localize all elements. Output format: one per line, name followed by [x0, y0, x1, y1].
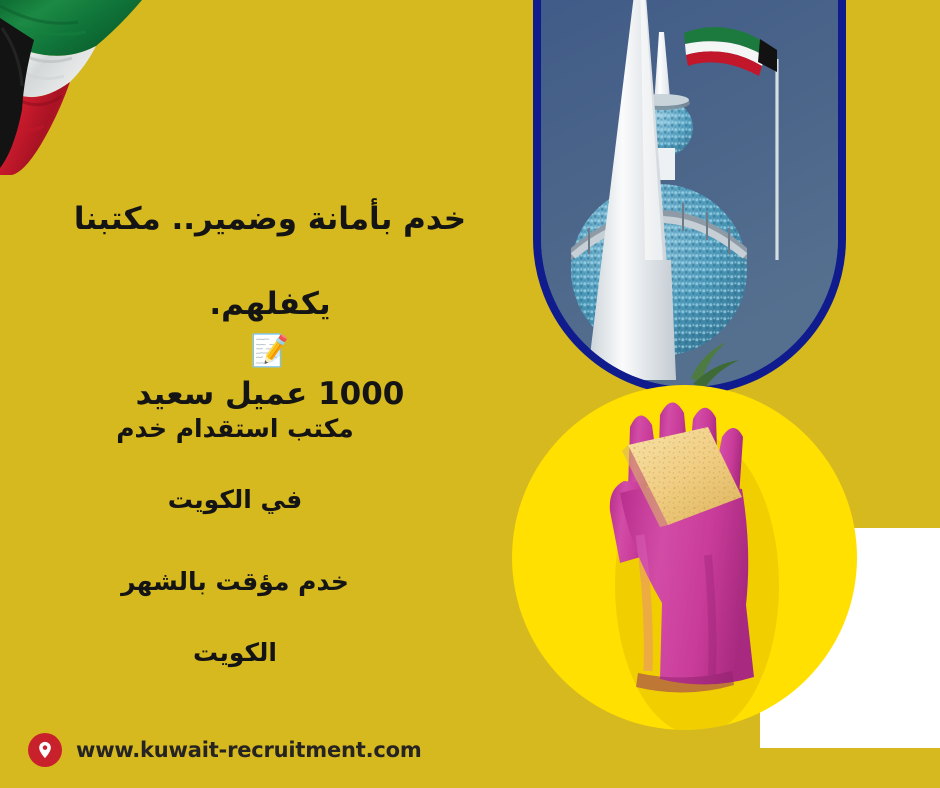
poster-canvas: خدم بأمانة وضمير.. مكتبنا يكفلهم. 📝 1000… [0, 0, 940, 788]
kuwait-flag-corner [0, 0, 150, 175]
subheading-one-line-1: مكتب استقدام خدم [116, 414, 354, 443]
kuwait-towers-photo-frame [533, 0, 846, 395]
kuwait-towers-image [541, 0, 838, 387]
headline-line-1: خدم بأمانة وضمير.. مكتبنا [74, 201, 466, 237]
cleaning-glove-image [512, 385, 857, 730]
location-pin-icon [28, 733, 62, 767]
subheading-two-line-1: خدم مؤقت بالشهر [121, 567, 349, 596]
subheading-two: خدم مؤقت بالشهر الكويت [40, 528, 430, 670]
subheading-one-line-2: في الكويت [168, 485, 302, 514]
glove-photo-circle [512, 385, 857, 730]
glove-image-wrap [512, 385, 857, 730]
subheading-two-line-2: الكويت [193, 638, 277, 667]
headline-line-2-lead: يكفلهم. [209, 286, 330, 322]
subheading-one: مكتب استقدام خدم في الكويت [40, 375, 430, 517]
memo-icon: 📝 [251, 330, 290, 373]
website-url[interactable]: www.kuwait-recruitment.com [76, 738, 422, 762]
footer-bar: www.kuwait-recruitment.com [28, 733, 422, 767]
kuwait-flag-image [0, 0, 150, 175]
